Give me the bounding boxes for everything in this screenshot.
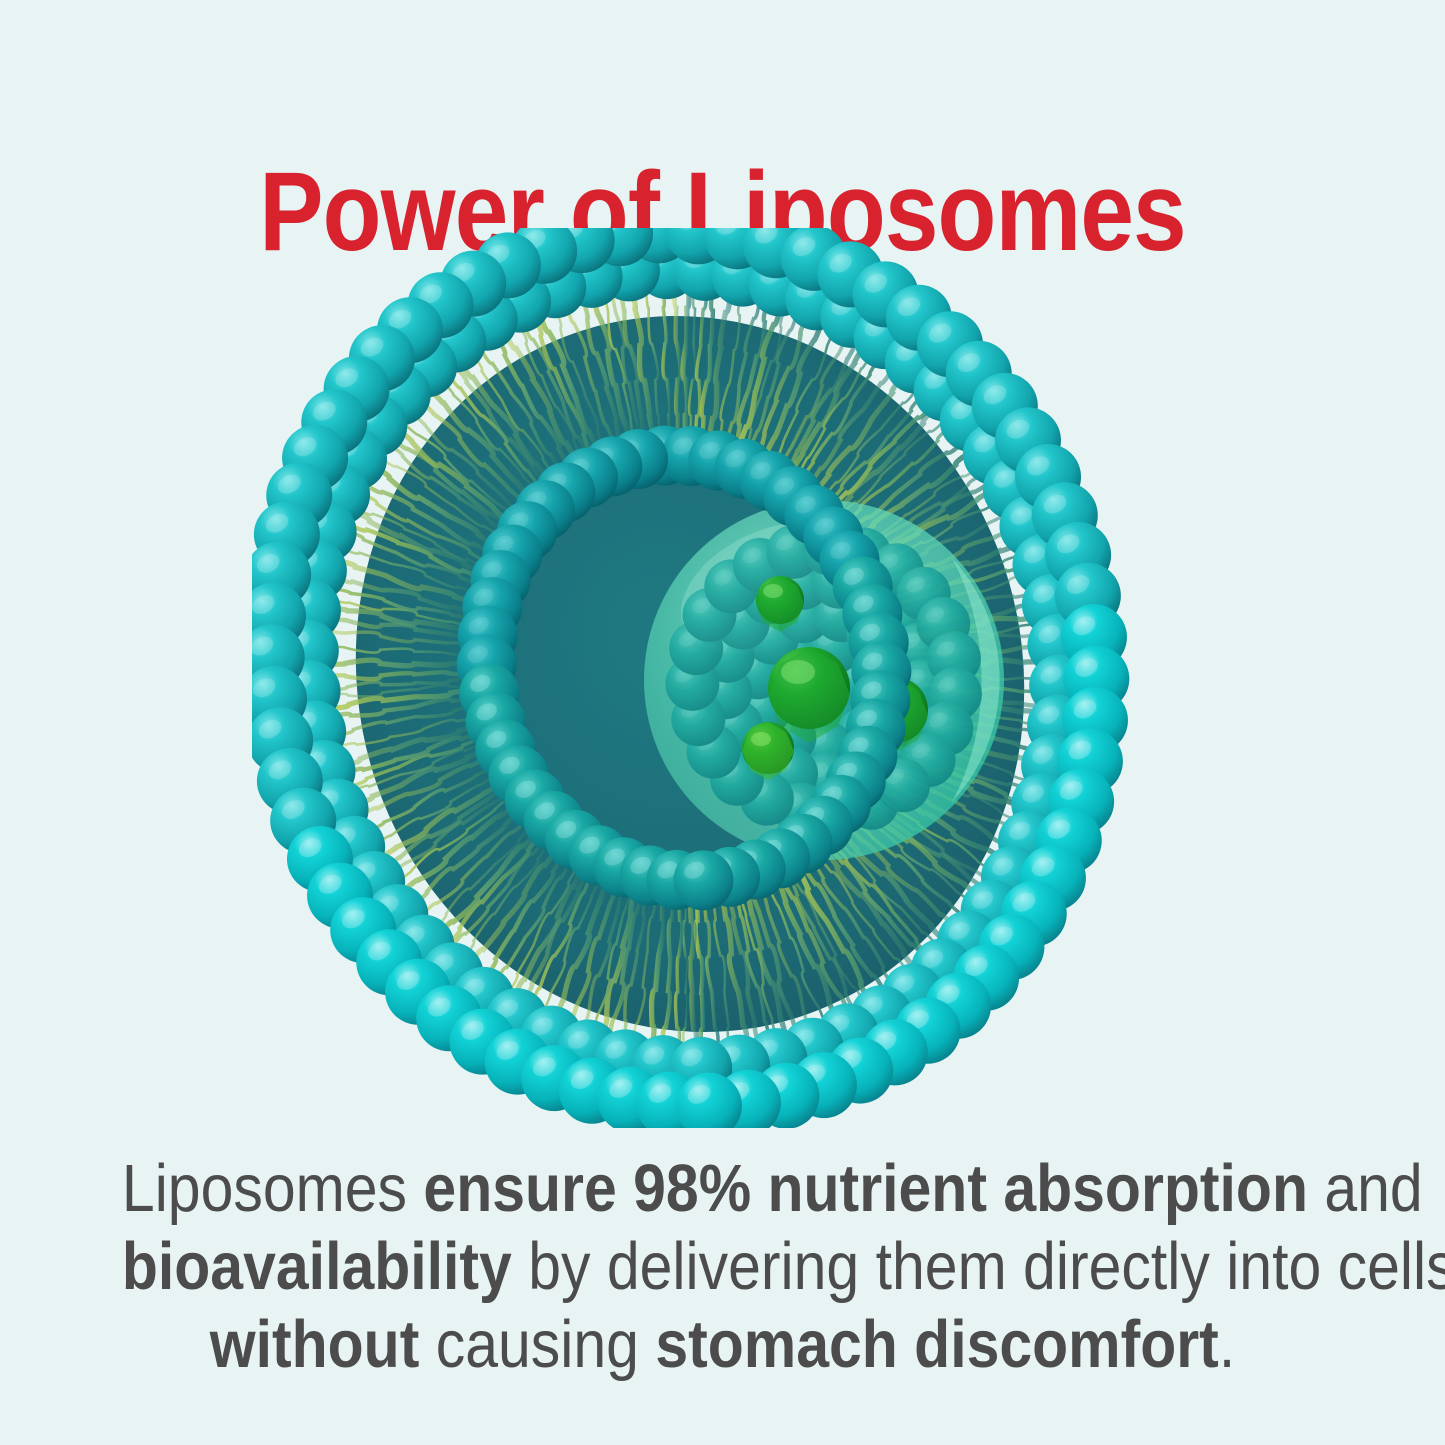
caption-text: .	[1219, 1307, 1235, 1382]
liposome-infographic: Power of Liposomes	[0, 0, 1445, 1445]
caption-text: and	[1308, 1151, 1423, 1226]
liposome-illustration: radial	[252, 228, 1202, 1128]
caption-line-3: without causing stomach discomfort.	[122, 1306, 1323, 1384]
caption-emphasis: ensure 98% nutrient absorption	[423, 1151, 1308, 1226]
caption-line-2: bioavailability by delivering them direc…	[122, 1228, 1323, 1306]
caption-text: Liposomes	[122, 1151, 424, 1226]
caption-line-1: Liposomes ensure 98% nutrient absorption…	[122, 1150, 1323, 1228]
caption-text: causing	[419, 1307, 655, 1382]
caption-emphasis: without	[210, 1307, 420, 1382]
caption-emphasis: bioavailability	[122, 1229, 512, 1304]
lipid-head-sphere	[673, 850, 733, 910]
caption-emphasis: stomach discomfort	[655, 1307, 1218, 1382]
caption-text: by delivering them directly into cells,	[512, 1229, 1445, 1304]
caption: Liposomes ensure 98% nutrient absorption…	[40, 1150, 1405, 1384]
